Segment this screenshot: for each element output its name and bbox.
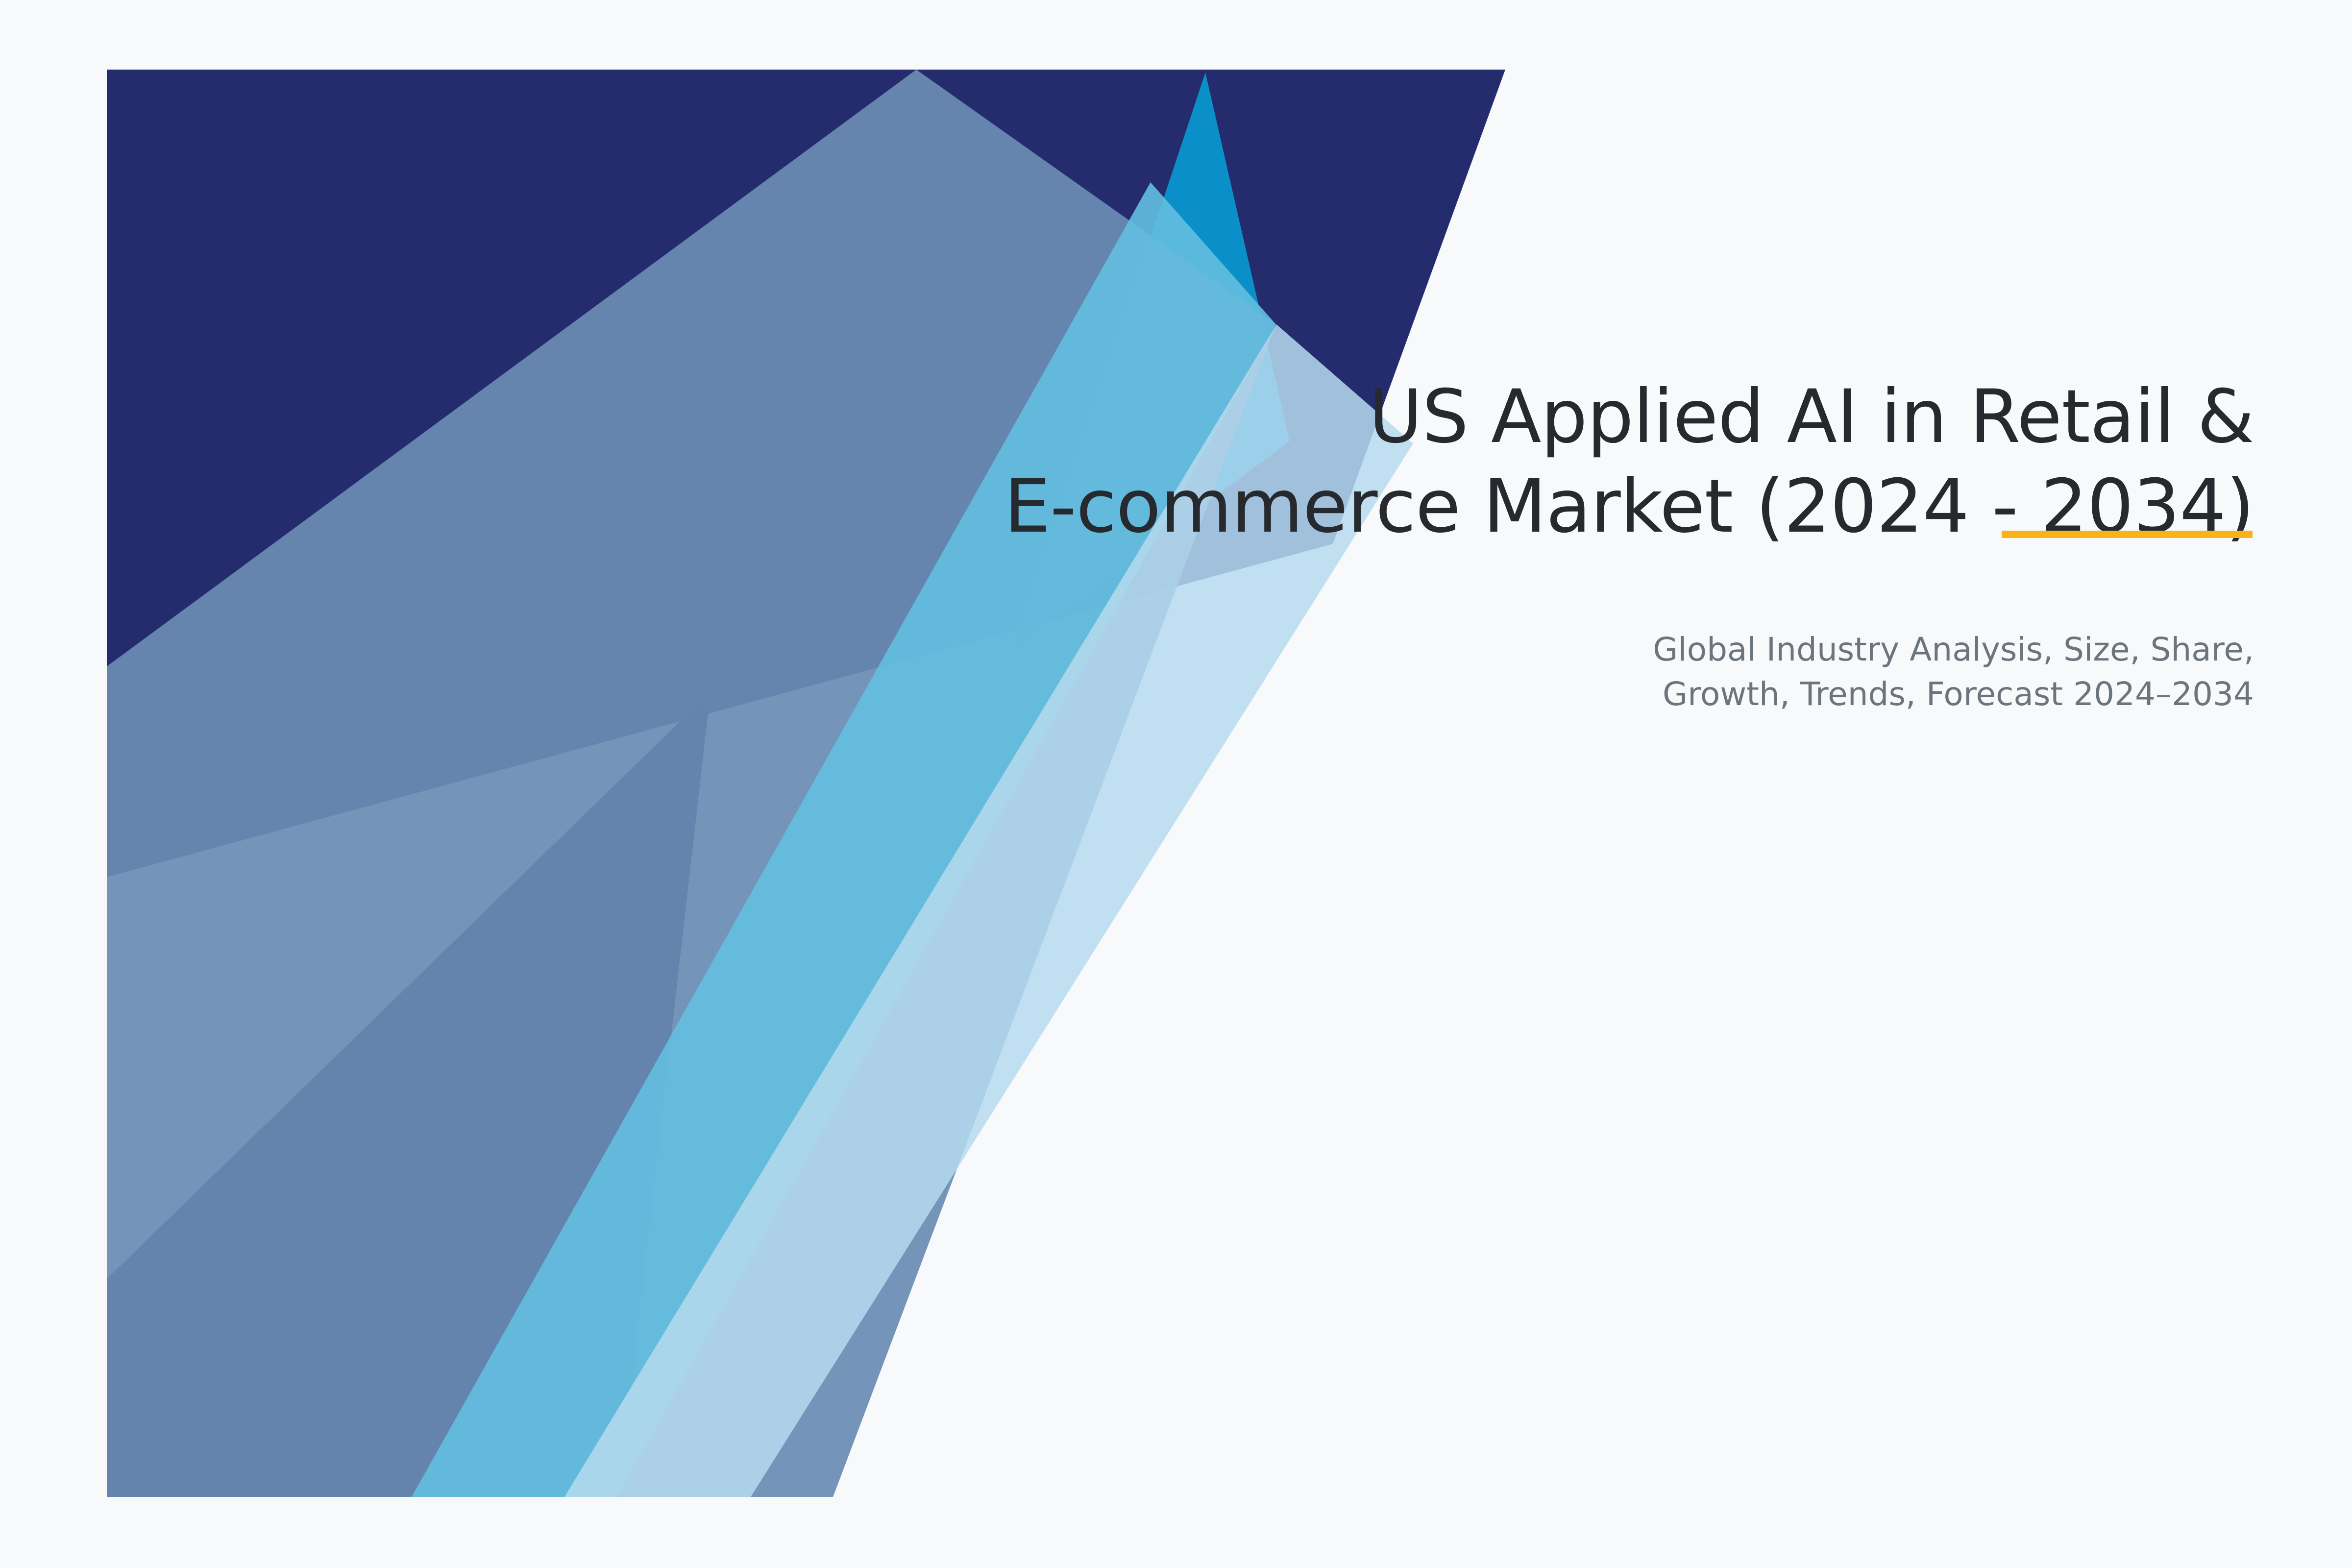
page-title: US Applied AI in Retail & E-commerce Mar… bbox=[931, 372, 2254, 552]
cover-heading-block: US Applied AI in Retail & E-commerce Mar… bbox=[931, 372, 2254, 552]
artwork-shape-group bbox=[107, 70, 1505, 1497]
title-accent-underline bbox=[2002, 531, 2253, 538]
page-subtitle: Global Industry Analysis, Size, Share, G… bbox=[1421, 627, 2254, 716]
abstract-geometric-artwork bbox=[0, 0, 2352, 1568]
report-cover-page: US Applied AI in Retail & E-commerce Mar… bbox=[0, 0, 2352, 1568]
